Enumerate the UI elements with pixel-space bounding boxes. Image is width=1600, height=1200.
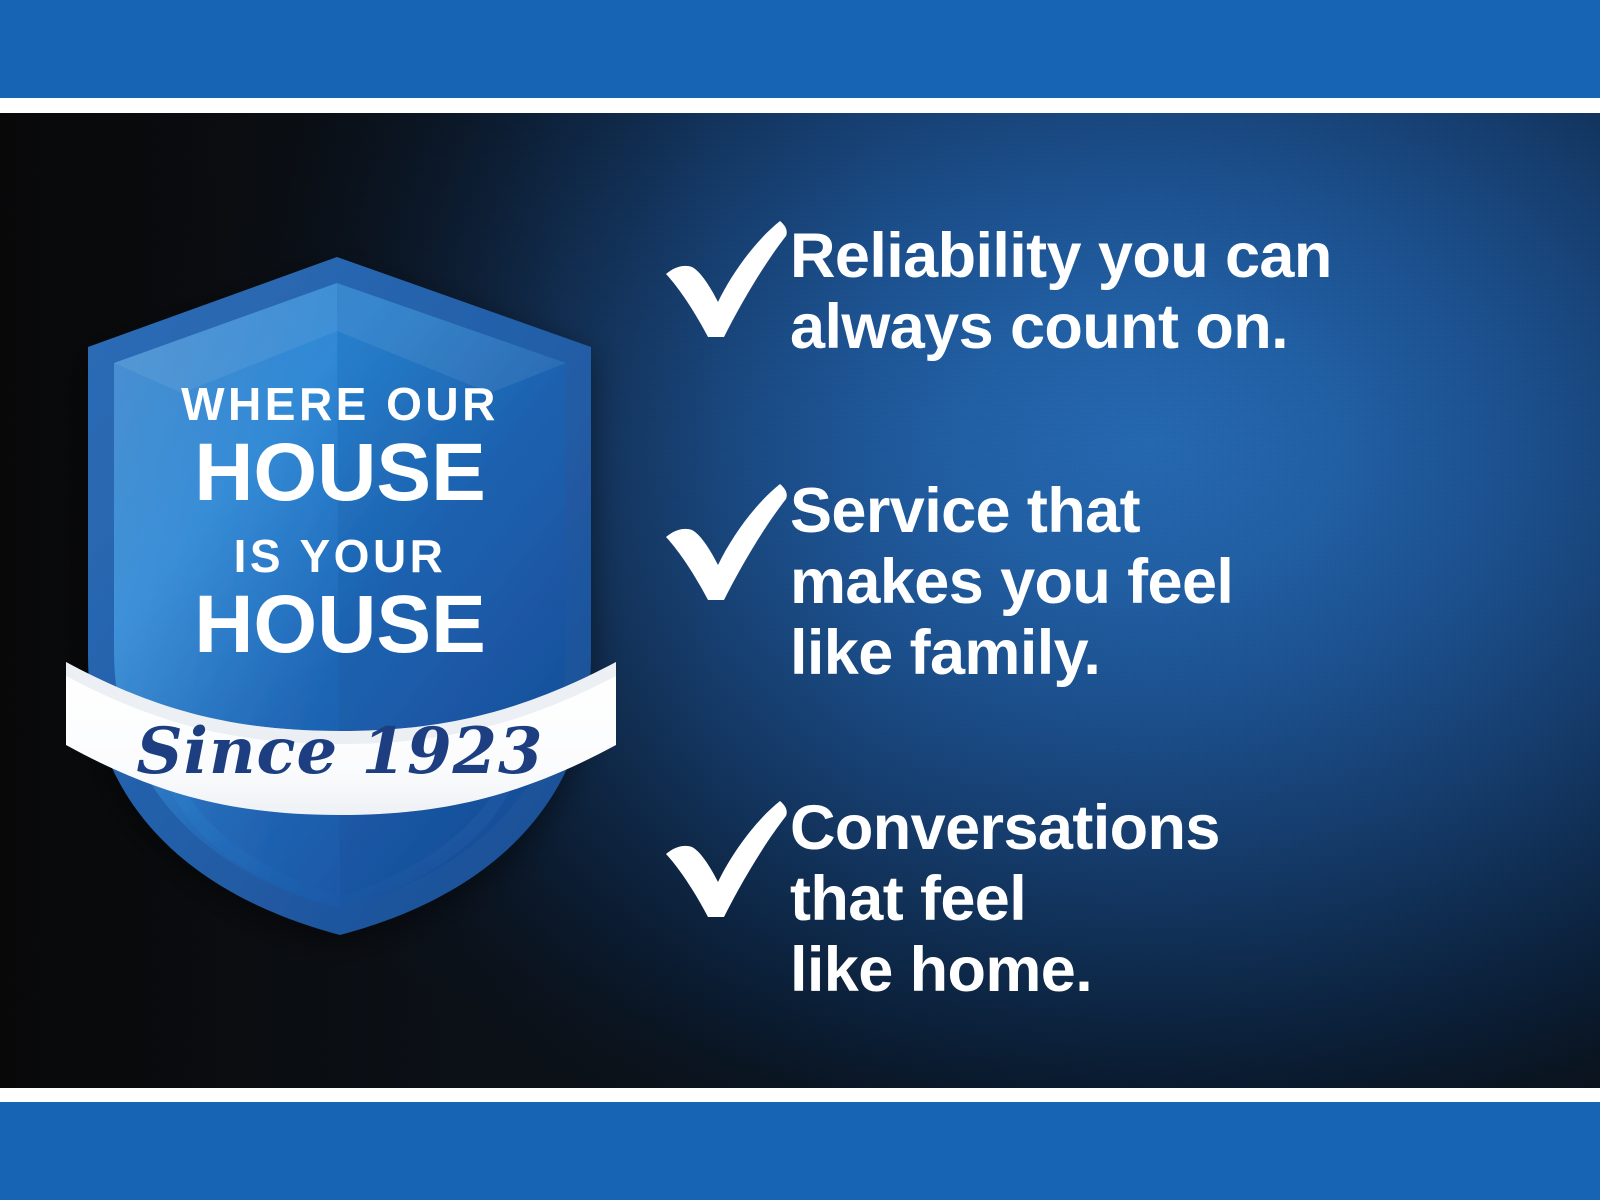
checkmark-icon bbox=[660, 797, 790, 919]
badge-line-3: IS YOUR bbox=[234, 530, 447, 582]
badge-line-4: HOUSE bbox=[194, 579, 486, 670]
checkmark-icon bbox=[660, 217, 790, 339]
list-item: Conversations that feel like home. bbox=[660, 785, 1220, 1007]
list-item: Service that makes you feel like family. bbox=[660, 468, 1233, 690]
benefits-list: Reliability you can always count on. Ser… bbox=[660, 113, 1520, 1088]
shield-badge-logo: WHERE OUR HOUSE IS YOUR HOUSE Since 1923 bbox=[40, 135, 640, 975]
checkmark-icon bbox=[660, 480, 790, 602]
list-item-text: Conversations that feel like home. bbox=[790, 793, 1220, 1007]
top-brand-bar bbox=[0, 0, 1600, 98]
bottom-brand-bar bbox=[0, 1102, 1600, 1200]
badge-line-1: WHERE OUR bbox=[181, 378, 499, 430]
list-item: Reliability you can always count on. bbox=[660, 213, 1332, 363]
list-item-text: Service that makes you feel like family. bbox=[790, 476, 1233, 690]
badge-line-2: HOUSE bbox=[194, 427, 486, 518]
promo-poster: WHERE OUR HOUSE IS YOUR HOUSE Since 1923… bbox=[0, 0, 1600, 1200]
list-item-text: Reliability you can always count on. bbox=[790, 221, 1332, 363]
ribbon-script-text: Since 1923 bbox=[136, 714, 543, 789]
